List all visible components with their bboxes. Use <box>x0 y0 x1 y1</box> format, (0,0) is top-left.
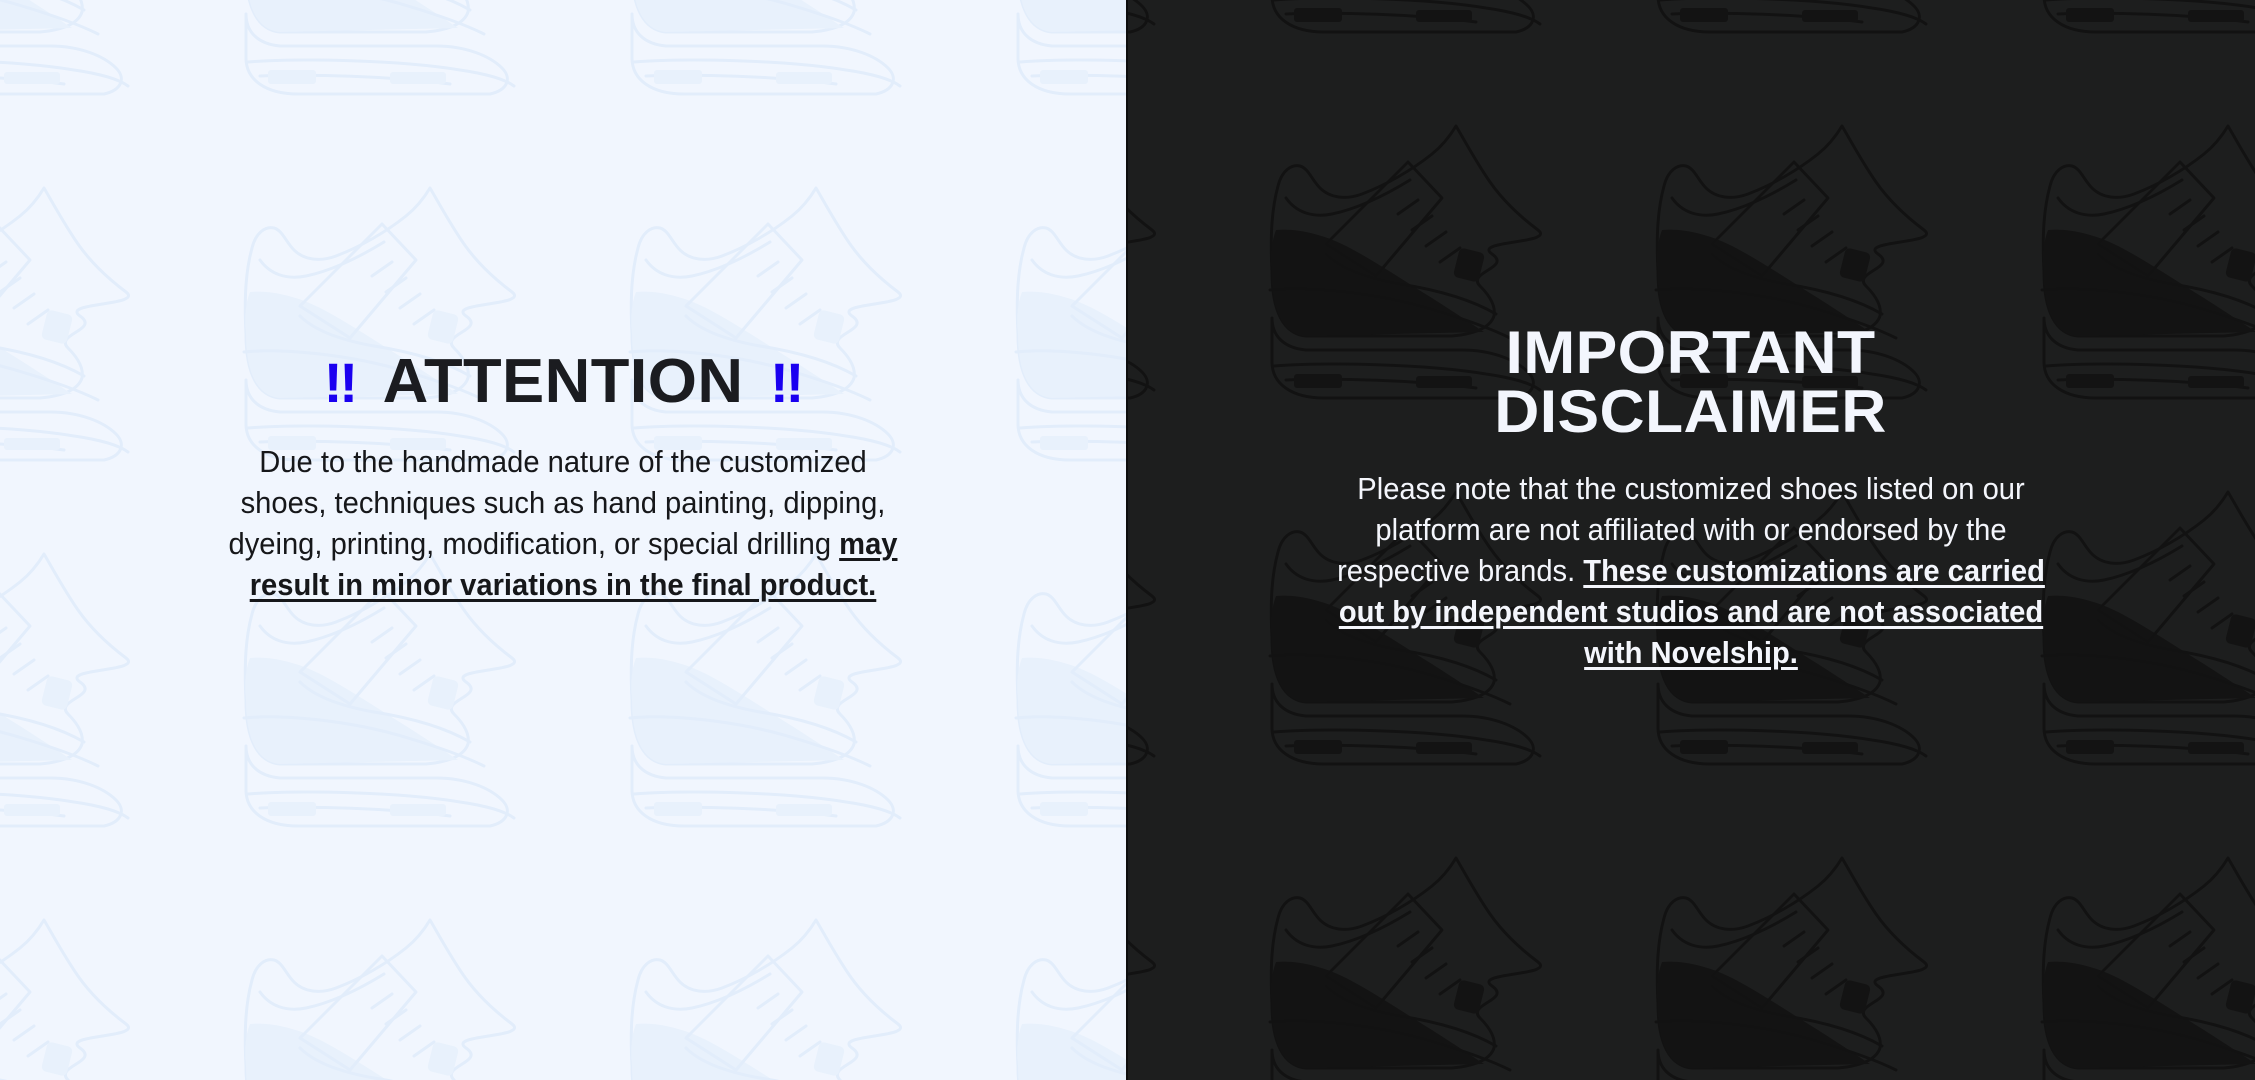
attention-heading: ‼ ATTENTION ‼ <box>0 352 1126 413</box>
disclaimer-panel: IMPORTANT DISCLAIMER Please note that th… <box>1126 0 2255 1080</box>
disclaimer-heading: IMPORTANT DISCLAIMER <box>1126 324 2255 442</box>
attention-content: ‼ ATTENTION ‼ Due to the handmade nature… <box>0 352 1126 606</box>
double-exclamation-icon-right: ‼ <box>770 355 802 411</box>
attention-body: Due to the handmade nature of the custom… <box>215 441 911 606</box>
disclaimer-content: IMPORTANT DISCLAIMER Please note that th… <box>1126 324 2255 674</box>
attention-panel: ‼ ATTENTION ‼ Due to the handmade nature… <box>0 0 1126 1080</box>
promo-banner: ‼ ATTENTION ‼ Due to the handmade nature… <box>0 0 2255 1080</box>
attention-heading-label: ATTENTION <box>383 352 744 413</box>
attention-body-regular: Due to the handmade nature of the custom… <box>229 444 886 561</box>
double-exclamation-icon-left: ‼ <box>324 355 356 411</box>
disclaimer-heading-line-1: IMPORTANT <box>1126 324 2255 383</box>
disclaimer-body: Please note that the customized shoes li… <box>1333 468 2047 674</box>
disclaimer-heading-line-2: DISCLAIMER <box>1126 383 2255 442</box>
panel-divider <box>1126 0 1128 1080</box>
